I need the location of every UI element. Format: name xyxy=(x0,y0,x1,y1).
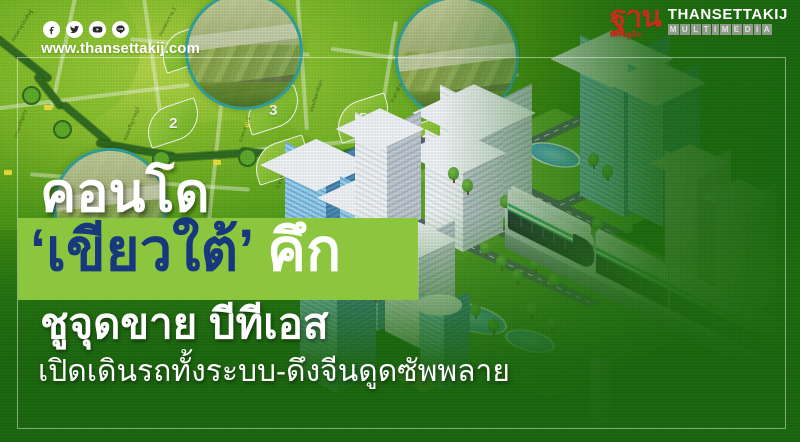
logo-letter: A xyxy=(762,24,772,35)
facebook-icon[interactable] xyxy=(43,21,60,38)
banner-root: 1 2 3 4 5 6 7 ถนนพระราม 3 ถนนสาธุประดิษฐ… xyxy=(0,0,800,442)
logo-letter: I xyxy=(754,24,761,35)
logo-letter: M xyxy=(668,24,679,35)
headline-line-4: เปิดเดินรถทั้งระบบ-ดึงจีนดูดซัพพลาย xyxy=(38,357,510,387)
social-icon-row[interactable] xyxy=(43,21,129,38)
logo-multimedia-strip: M U L T I M E D I A xyxy=(668,24,788,35)
logo-letter: T xyxy=(702,24,711,35)
logo-letter: M xyxy=(720,24,731,35)
logo-letter: I xyxy=(712,24,719,35)
logo-letter: U xyxy=(680,24,690,35)
headline-line-2: ‘เขียวใต้’ คึก xyxy=(30,222,341,280)
logo-english-block: THANSETTAKIJ M U L T I M E D I A xyxy=(668,6,788,38)
line-icon[interactable] xyxy=(112,21,129,38)
logo-letter: L xyxy=(691,24,700,35)
thansettakij-logo[interactable]: ฐาน เศรษฐกิจ THANSETTAKIJ M U L T I M E … xyxy=(610,4,788,38)
youtube-icon[interactable] xyxy=(89,21,106,38)
twitter-icon[interactable] xyxy=(66,21,83,38)
logo-letter: D xyxy=(743,24,753,35)
headline-quoted-term: ‘เขียวใต้’ xyxy=(30,218,253,283)
logo-thai-wordmark: ฐาน เศรษฐกิจ xyxy=(610,4,661,38)
headline-line-2-tail: คึก xyxy=(267,218,341,283)
website-url[interactable]: www.thansettakij.com xyxy=(41,40,200,57)
headline-line-3: ชูจุดขาย บีทีเอส xyxy=(40,303,329,345)
headline-line-1: คอนโด xyxy=(40,166,210,220)
logo-letter: E xyxy=(732,24,742,35)
logo-english-wordmark: THANSETTAKIJ xyxy=(668,6,788,23)
